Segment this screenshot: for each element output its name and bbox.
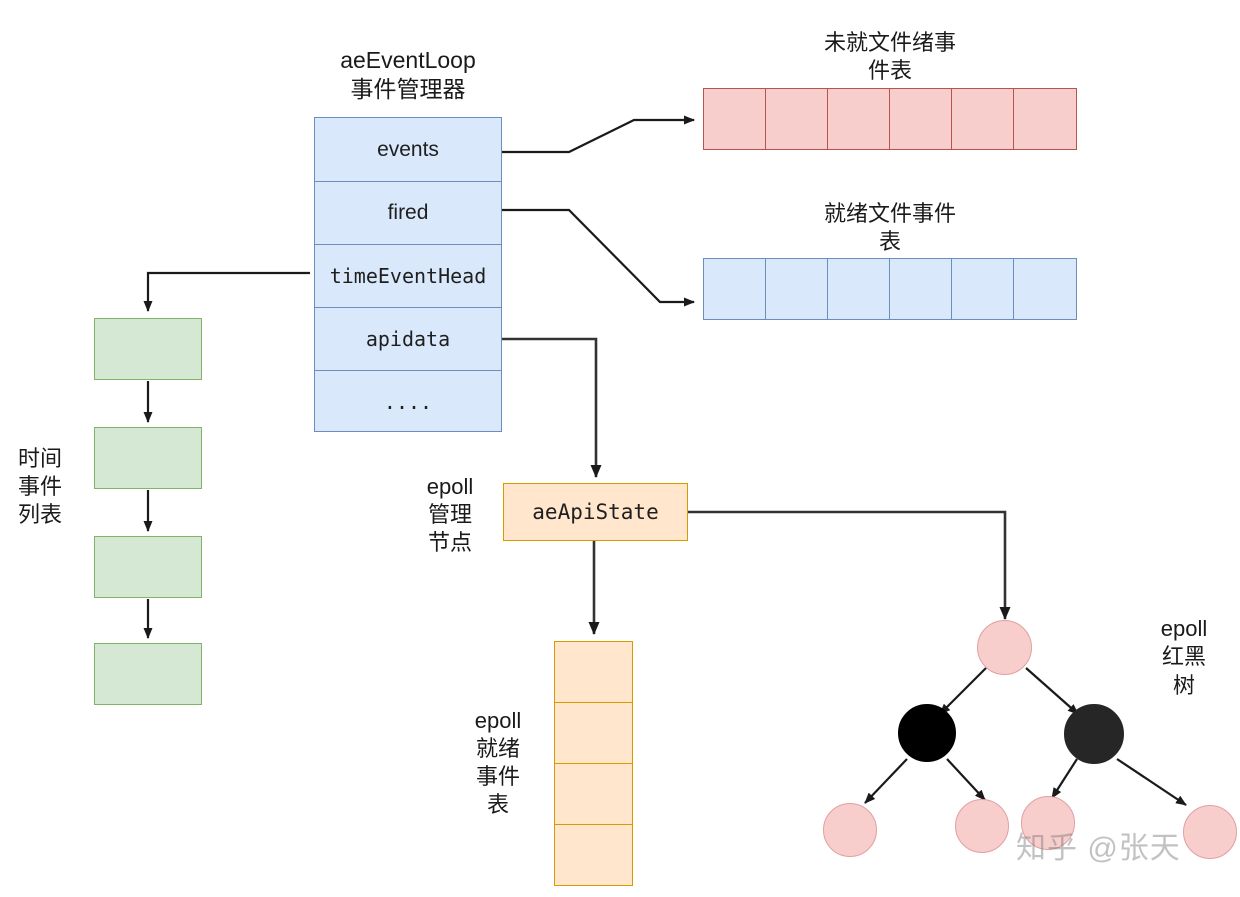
api-state-title: epoll 管理 节点 [408,470,492,560]
table-cell[interactable] [765,88,829,150]
rb-node-leaf-4[interactable] [1183,805,1237,859]
wire-events-to-pending-table [502,120,694,152]
rb-node-right[interactable] [1064,704,1124,764]
field-events[interactable]: events [315,118,501,181]
epoll-ready-table[interactable] [554,641,633,886]
rb-node-left[interactable] [898,704,956,762]
wire-fired-to-ready-table [502,210,694,302]
wire-apidata-to-apistate [502,339,596,477]
table-cell[interactable] [1013,258,1077,320]
time-event-node[interactable] [94,427,202,489]
table-cell[interactable] [765,258,829,320]
wire-rb-left-to-leaf1 [865,759,907,803]
ready-file-events-table[interactable] [703,258,1077,320]
pending-file-events-title: 未就文件绪事 件表 [735,28,1045,86]
rb-tree-title: epoll 红黑 树 [1136,600,1232,715]
field-timeeventhead[interactable]: timeEventHead [315,244,501,307]
field-apidata[interactable]: apidata [315,307,501,370]
table-cell[interactable] [889,88,953,150]
table-cell[interactable] [554,702,633,764]
time-event-node[interactable] [94,536,202,598]
table-cell[interactable] [554,641,633,703]
api-state-box[interactable]: aeApiState [503,483,688,541]
event-loop-title: aeEventLoop 事件管理器 [300,42,516,108]
rb-node-leaf-2[interactable] [955,799,1009,853]
table-cell[interactable] [827,88,891,150]
table-cell[interactable] [703,88,767,150]
field-fired[interactable]: fired [315,181,501,244]
wire-timeeventhead-to-list [148,273,310,311]
table-cell[interactable] [554,763,633,825]
time-event-node[interactable] [94,643,202,705]
diagram-canvas: aeEventLoop 事件管理器 events fired timeEvent… [0,0,1240,897]
time-event-node[interactable] [94,318,202,380]
field-ellipsis: .... [315,370,501,433]
time-event-list-title: 时间 事件 列表 [2,432,78,542]
table-cell[interactable] [1013,88,1077,150]
wire-rb-left-to-leaf2 [947,759,985,800]
wire-apistate-to-rbtree [688,512,1005,619]
watermark: 知乎 @张天 [1016,823,1181,867]
epoll-ready-table-title: epoll 就绪 事件 表 [452,683,544,843]
event-loop-struct[interactable]: events fired timeEventHead apidata .... [314,117,502,432]
wire-rb-right-to-leaf3 [1052,759,1077,798]
table-cell[interactable] [554,824,633,886]
wire-rb-right-to-leaf4 [1117,759,1186,805]
table-cell[interactable] [827,258,891,320]
table-cell[interactable] [951,88,1015,150]
table-cell[interactable] [951,258,1015,320]
wire-rb-root-to-right [1026,668,1078,714]
table-cell[interactable] [889,258,953,320]
wire-rb-root-to-left [940,668,986,714]
pending-file-events-table[interactable] [703,88,1077,150]
rb-node-root[interactable] [977,620,1032,675]
ready-file-events-title: 就绪文件事件 表 [735,199,1045,257]
rb-node-leaf-1[interactable] [823,803,877,857]
table-cell[interactable] [703,258,767,320]
